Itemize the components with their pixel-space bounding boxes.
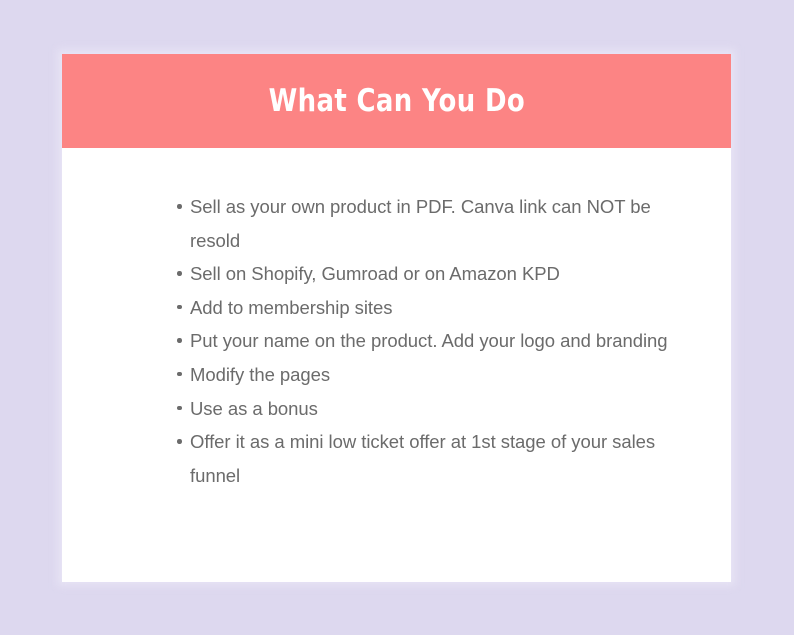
list-item: Sell as your own product in PDF. Canva l… xyxy=(177,190,677,257)
bullet-icon xyxy=(177,271,182,276)
list-item-label: Put your name on the product. Add your l… xyxy=(190,324,677,358)
page-title: What Can You Do xyxy=(268,83,524,119)
bullet-icon xyxy=(177,406,182,411)
list-item-label: Add to membership sites xyxy=(190,291,677,325)
bullet-icon xyxy=(177,338,182,343)
benefits-list: Sell as your own product in PDF. Canva l… xyxy=(177,190,677,492)
list-item-label: Sell as your own product in PDF. Canva l… xyxy=(190,190,677,257)
slide-canvas: What Can You Do Sell as your own product… xyxy=(0,0,794,635)
list-item-label: Offer it as a mini low ticket offer at 1… xyxy=(190,425,677,492)
list-item: Offer it as a mini low ticket offer at 1… xyxy=(177,425,677,492)
bullet-icon xyxy=(177,204,182,209)
content-card: What Can You Do Sell as your own product… xyxy=(62,54,731,582)
list-item: Sell on Shopify, Gumroad or on Amazon KP… xyxy=(177,257,677,291)
bullet-icon xyxy=(177,372,182,377)
list-item: Use as a bonus xyxy=(177,392,677,426)
list-item: Add to membership sites xyxy=(177,291,677,325)
list-item: Modify the pages xyxy=(177,358,677,392)
list-item: Put your name on the product. Add your l… xyxy=(177,324,677,358)
list-item-label: Use as a bonus xyxy=(190,392,677,426)
list-item-label: Modify the pages xyxy=(190,358,677,392)
list-item-label: Sell on Shopify, Gumroad or on Amazon KP… xyxy=(190,257,677,291)
bullet-icon xyxy=(177,439,182,444)
card-header-band: What Can You Do xyxy=(62,54,731,148)
card-body: Sell as your own product in PDF. Canva l… xyxy=(62,148,731,450)
bullet-icon xyxy=(177,305,182,310)
